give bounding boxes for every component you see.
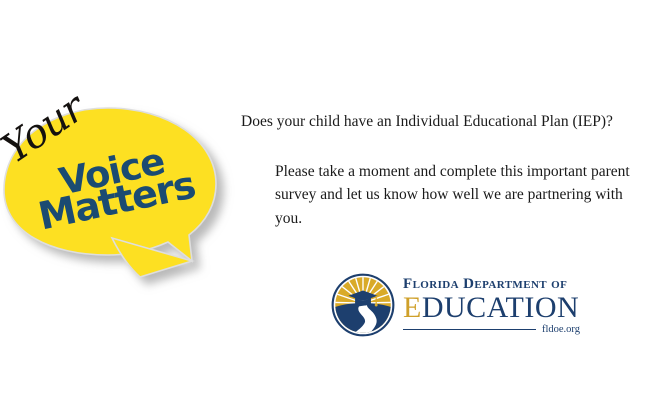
speech-bubble: Your Voice Matters (0, 98, 238, 288)
seal-inner-group (330, 272, 396, 338)
fldoe-line-education: EDUCATION (403, 293, 580, 324)
fldoe-wordmark: Florida Department of EDUCATION fldoe.or… (403, 272, 580, 335)
survey-paragraph: Please take a moment and complete this i… (275, 160, 635, 231)
fldoe-line-florida-department-of: Florida Department of (403, 277, 580, 292)
survey-copy-block: Does your child have an Individual Educa… (241, 112, 641, 231)
survey-headline: Does your child have an Individual Educa… (241, 112, 641, 133)
bubble-balloon-path (4, 108, 216, 261)
fldoe-divider (403, 329, 536, 330)
fldoe-education-initial: E (403, 291, 422, 324)
fldoe-website-url[interactable]: fldoe.org (542, 325, 580, 336)
fldoe-education-rest: DUCATION (422, 291, 579, 324)
bubble-body-group (4, 108, 216, 277)
fldoe-seal-icon (330, 272, 396, 338)
fldoe-rule-row: fldoe.org (403, 325, 580, 336)
fldoe-logo: Florida Department of EDUCATION fldoe.or… (330, 272, 580, 342)
poster-canvas: Your Voice Matters Does your child have … (0, 0, 650, 410)
speech-bubble-shape (0, 98, 238, 288)
